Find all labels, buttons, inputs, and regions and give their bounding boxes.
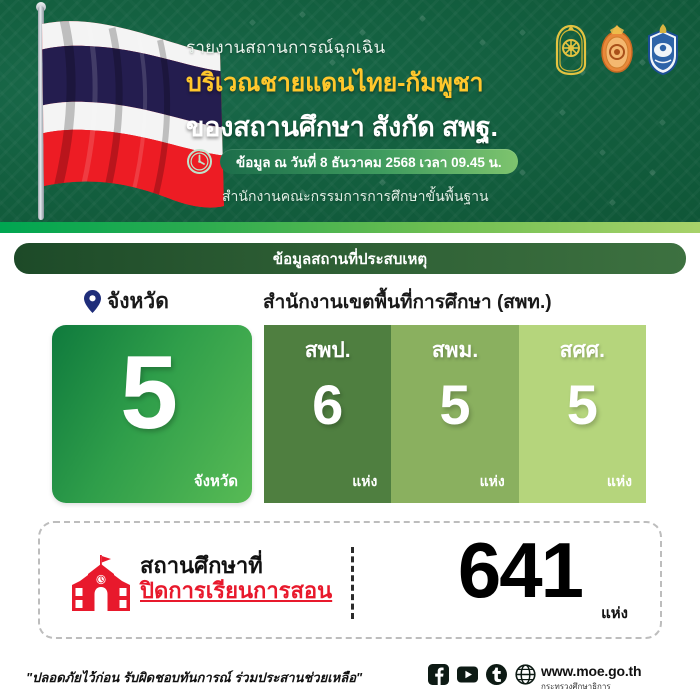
province-label-group: จังหวัด: [84, 285, 169, 318]
office-stat-columns: สพป. 6 แห่ง สพม. 5 แห่ง สศศ. 5 แห่ง: [264, 325, 646, 503]
province-label-text: จังหวัด: [107, 285, 169, 318]
website-url[interactable]: www.moe.go.th: [541, 663, 641, 679]
section-banner: ข้อมูลสถานที่ประสบเหตุ: [14, 243, 686, 274]
website-block[interactable]: www.moe.go.th กระทรวงศึกษาธิการ: [541, 663, 641, 693]
office-unit: แห่ง: [607, 471, 632, 493]
social-links: [428, 664, 536, 685]
royal-cypher-emblem: [598, 24, 636, 76]
date-stamp: ข้อมูล ณ วันที่ 8 ธันวาคม 2568 เวลา 09.4…: [186, 148, 518, 175]
closed-schools-card: สถานศึกษาที่ ปิดการเรียนการสอน 641 แห่ง: [38, 521, 662, 639]
office-value: 6: [264, 377, 391, 433]
office-label: สศศ.: [519, 334, 646, 367]
office-stat-card: สศศ. 5 แห่ง: [519, 325, 646, 503]
province-stat-value: 5: [52, 341, 246, 445]
footer: "ปลอดภัยไว้ก่อน รับผิดชอบทันการณ์ ร่วมปร…: [0, 653, 700, 700]
tumblr-icon[interactable]: [486, 664, 507, 685]
youtube-icon[interactable]: [457, 664, 478, 685]
infographic-page: รายงานสถานการณ์ฉุกเฉิน บริเวณชายแดนไทย-ก…: [0, 0, 700, 700]
header-line-3: ของสถานศึกษา สังกัด สพฐ.: [186, 105, 566, 148]
province-stat-unit: จังหวัด: [194, 469, 238, 493]
vertical-divider: [351, 547, 354, 619]
website-subtitle: กระทรวงศึกษาธิการ: [541, 680, 641, 693]
gradient-divider: [0, 222, 700, 233]
header-line-2: บริเวณชายแดนไทย-กัมพูชา: [186, 63, 566, 103]
office-label: สพป.: [264, 334, 391, 367]
globe-icon[interactable]: [515, 664, 536, 685]
obec-emblem-blue: [644, 24, 682, 76]
office-unit: แห่ง: [352, 471, 377, 493]
date-pill: ข้อมูล ณ วันที่ 8 ธันวาคม 2568 เวลา 09.4…: [220, 149, 518, 174]
office-stat-card: สพม. 5 แห่ง: [391, 325, 518, 503]
clock-icon: [186, 148, 213, 175]
closed-schools-unit: แห่ง: [601, 601, 628, 625]
closed-label-line1: สถานศึกษาที่: [140, 553, 332, 578]
header-line-1: รายงานสถานการณ์ฉุกเฉิน: [186, 34, 566, 61]
office-value: 5: [391, 377, 518, 433]
header-text-block: รายงานสถานการณ์ฉุกเฉิน บริเวณชายแดนไทย-ก…: [186, 34, 566, 148]
spt-label-text: สำนักงานเขตพื้นที่การศึกษา (สพท.): [263, 287, 552, 317]
header-banner: รายงานสถานการณ์ฉุกเฉิน บริเวณชายแดนไทย-ก…: [0, 0, 700, 222]
facebook-icon[interactable]: [428, 664, 449, 685]
office-stat-card: สพป. 6 แห่ง: [264, 325, 391, 503]
main-content: ข้อมูลสถานที่ประสบเหตุ จังหวัด สำนักงานเ…: [0, 233, 700, 653]
map-pin-icon: [84, 290, 101, 313]
office-value: 5: [519, 377, 646, 433]
closed-schools-value: 641: [410, 531, 630, 609]
province-stat-card: 5 จังหวัด: [52, 325, 252, 503]
school-building-icon: [70, 555, 132, 611]
closed-schools-label: สถานศึกษาที่ ปิดการเรียนการสอน: [140, 553, 332, 605]
department-name: สำนักงานคณะกรรมการการศึกษาขั้นพื้นฐาน: [222, 186, 489, 208]
stats-label-row: จังหวัด สำนักงานเขตพื้นที่การศึกษา (สพท.…: [0, 285, 700, 317]
closed-label-line2: ปิดการเรียนการสอน: [140, 578, 332, 604]
ministry-emblems: [552, 24, 682, 76]
office-unit: แห่ง: [480, 471, 505, 493]
office-label: สพม.: [391, 334, 518, 367]
footer-slogan: "ปลอดภัยไว้ก่อน รับผิดชอบทันการณ์ ร่วมปร…: [26, 667, 362, 688]
